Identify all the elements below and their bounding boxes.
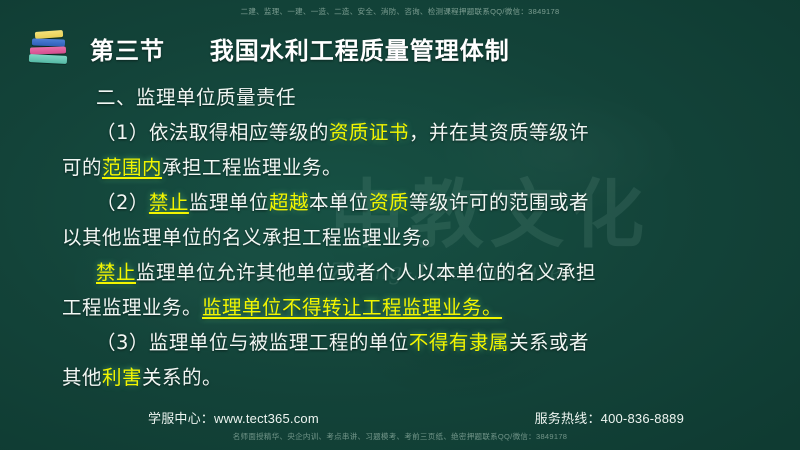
slide-footer: 学服中心：www.tect365.com 服务热线：400-836-8889	[0, 408, 800, 430]
title-heading: 我国水利工程质量管理体制	[210, 37, 510, 65]
emphasis-text: 超越	[269, 191, 309, 214]
emphasis-text: 不得有隶属	[409, 331, 509, 354]
body-line-item-2-line-1: （2）禁止监理单位超越本单位资质等级许可的范围或者	[62, 185, 762, 220]
slide-title-bar: 第三节 我国水利工程质量管理体制	[26, 28, 510, 68]
body-lines: （1）依法取得相应等级的资质证书，并在其资质等级许可的范围内承担工程监理业务。（…	[62, 115, 762, 395]
bottom-promo-banner: 名师面授精华、央企内训、考点串讲、习题模考、考前三页纸、绝密押题联系QQ/微信：…	[0, 431, 800, 442]
body-line-item-1-line-2: 可的范围内承担工程监理业务。	[62, 150, 762, 185]
plain-text: 本单位	[309, 191, 369, 214]
plain-text: （3）监理单位与被监理工程的单位	[96, 331, 409, 354]
plain-text: 可的	[62, 156, 102, 179]
emphasis-text: 范围内	[102, 156, 162, 179]
body-line-item-2-line-3: 禁止监理单位允许其他单位或者个人以本单位的名义承担	[62, 255, 762, 290]
plain-text: （1）依法取得相应等级的	[96, 121, 329, 144]
body-line-item-1-line-1: （1）依法取得相应等级的资质证书，并在其资质等级许	[62, 115, 762, 150]
plain-text: 等级许可的范围或者	[409, 191, 589, 214]
body-line-item-2-line-4: 工程监理业务。监理单位不得转让工程监理业务。	[62, 290, 762, 325]
page-title: 第三节 我国水利工程质量管理体制	[90, 31, 510, 66]
body-line-item-2-line-2: 以其他监理单位的名义承担工程监理业务。	[62, 220, 762, 255]
plain-text: （2）	[96, 191, 149, 214]
slide-body: 二、监理单位质量责任 （1）依法取得相应等级的资质证书，并在其资质等级许可的范围…	[62, 80, 762, 395]
slide-canvas: 中教文化 Zhong-Jiao Culture 二建、监理、一建、一造、二造、安…	[0, 0, 800, 450]
body-line-item-3-line-2: 其他利害关系的。	[62, 360, 762, 395]
plain-text: 以其他监理单位的名义承担工程监理业务。	[62, 226, 442, 249]
plain-text: 工程监理业务。	[62, 296, 202, 319]
emphasis-text: 利害	[102, 366, 142, 389]
plain-text: 监理单位允许其他单位或者个人以本单位的名义承担	[136, 261, 596, 284]
plain-text: 关系或者	[509, 331, 589, 354]
plain-text: ，并在其资质等级许	[409, 121, 589, 144]
emphasis-text: 禁止	[96, 261, 136, 284]
emphasis-text: 资质证书	[329, 121, 409, 144]
plain-text: 承担工程监理业务。	[162, 156, 342, 179]
body-line-item-3-line-1: （3）监理单位与被监理工程的单位不得有隶属关系或者	[62, 325, 762, 360]
emphasis-text: 资质	[369, 191, 409, 214]
body-subheading: 二、监理单位质量责任	[62, 80, 762, 115]
top-promo-banner: 二建、监理、一建、一造、二造、安全、消防、咨询、检测课程押题联系QQ/微信：38…	[0, 6, 800, 17]
stacked-books-icon	[26, 28, 72, 68]
plain-text: 其他	[62, 366, 102, 389]
plain-text: 关系的。	[142, 366, 222, 389]
emphasis-text: 监理单位不得转让工程监理业务。	[202, 296, 502, 319]
emphasis-text: 禁止	[149, 191, 189, 214]
footer-hotline: 服务热线：400-836-8889	[535, 408, 684, 427]
title-section-number: 第三节	[90, 37, 165, 65]
plain-text: 监理单位	[189, 191, 269, 214]
footer-service-center: 学服中心：www.tect365.com	[148, 408, 319, 427]
